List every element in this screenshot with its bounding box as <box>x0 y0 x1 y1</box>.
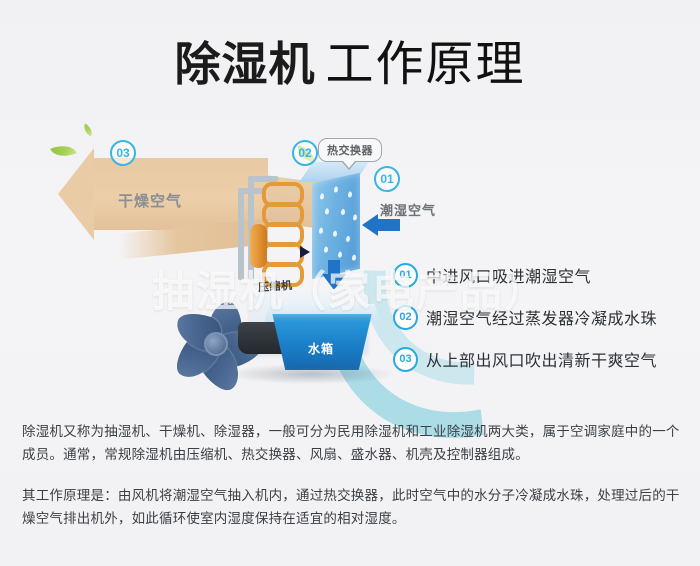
pipe <box>238 188 244 280</box>
pipe <box>238 188 264 194</box>
compressor-label: 压缩机 <box>257 277 293 295</box>
page-title-secondary: 工作原理 <box>325 38 525 91</box>
paragraph-2: 其工作原理是：由风机将潮湿空气抽入机内，通过热交换器，此时空气中的水分子冷凝成水… <box>22 484 682 530</box>
diagram-badge-01: 01 <box>374 166 400 192</box>
page-title: 除湿机工作原理 <box>0 24 700 94</box>
diagram-badge-02: 02 <box>292 140 318 166</box>
step-text: 中进风口吸进潮湿空气 <box>426 263 591 287</box>
step-badge: 03 <box>393 347 418 372</box>
flow-arrow <box>300 246 310 258</box>
condenser-coil <box>262 180 314 280</box>
humid-air-label: 潮湿空气 <box>380 200 436 219</box>
step-text: 从上部出风口吹出清新干爽空气 <box>426 347 657 371</box>
paragraph-1: 除湿机又称为抽湿机、干燥机、除湿器，一般可分为民用除湿机和工业除湿机两大类，属于… <box>22 420 682 466</box>
intake-arrow <box>362 214 378 236</box>
ground-shadow <box>228 364 394 384</box>
infographic-page: 除湿机工作原理 干燥空气 <box>0 0 700 566</box>
leaf-icon <box>81 123 95 136</box>
intake-arrow-tail <box>378 219 400 231</box>
step-badge: 01 <box>393 263 418 288</box>
heat-exchanger-callout: 热交换器 <box>318 138 382 162</box>
diagram-badge-03: 03 <box>110 140 136 166</box>
water-tank-label: 水箱 <box>308 340 334 357</box>
list-item: 02 潮湿空气经过蒸发器冷凝成水珠 <box>393 296 693 338</box>
steps-list: 01 中进风口吸进潮湿空气 02 潮湿空气经过蒸发器冷凝成水珠 03 从上部出风… <box>393 254 693 380</box>
step-badge: 02 <box>393 305 418 330</box>
list-item: 01 中进风口吸进潮湿空气 <box>393 254 693 296</box>
page-title-primary: 除湿机 <box>174 38 315 90</box>
list-item: 03 从上部出风口吹出清新干爽空气 <box>393 338 693 380</box>
description-block: 除湿机又称为抽湿机、干燥机、除湿器，一般可分为民用除湿机和工业除湿机两大类，属于… <box>22 420 682 548</box>
dry-air-label: 干燥空气 <box>118 190 182 211</box>
water-drip-arrow <box>322 274 346 290</box>
step-text: 潮湿空气经过蒸发器冷凝成水珠 <box>426 305 657 329</box>
dry-air-arrow-head <box>58 148 94 240</box>
